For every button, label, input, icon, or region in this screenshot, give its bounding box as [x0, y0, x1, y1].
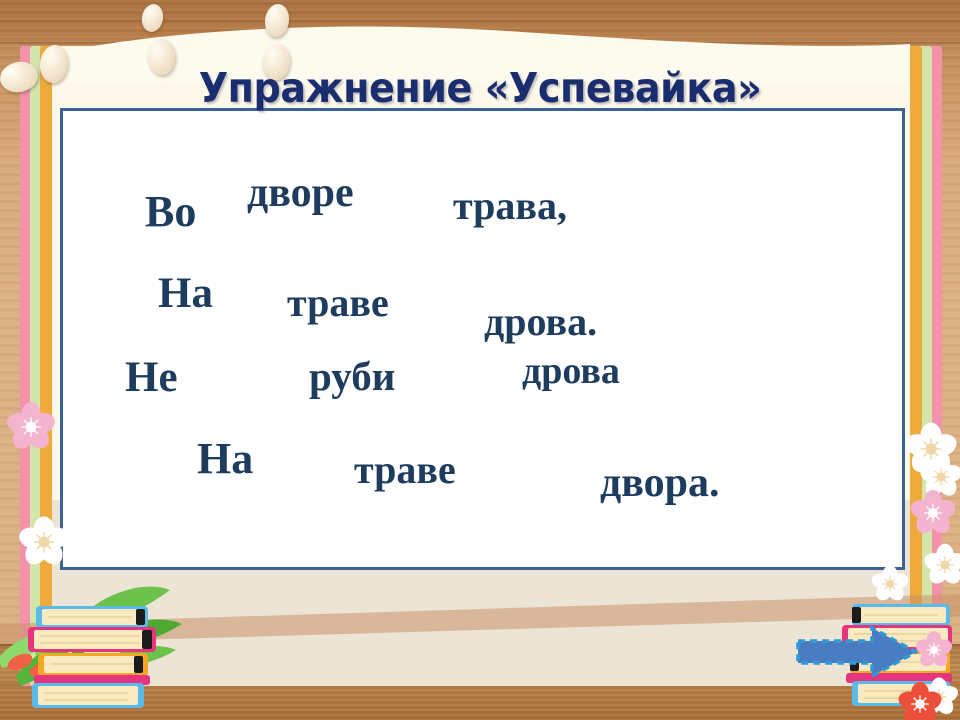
- exercise-word: траве: [287, 283, 389, 323]
- exercise-word: дрова.: [484, 302, 597, 342]
- cherry-blossom-icon: [894, 678, 946, 720]
- presentation-slide: Водворетрава,Натраведрова.НерубидроваНат…: [0, 0, 960, 720]
- exercise-word: дрова: [522, 352, 620, 390]
- exercise-word: руби: [309, 356, 395, 397]
- exercise-content-box: [60, 108, 905, 570]
- exercise-word: трава,: [453, 186, 567, 226]
- slide-title: Упражнение «Успевайка»: [34, 64, 927, 112]
- exercise-word: двора.: [600, 462, 720, 504]
- exercise-word: На: [197, 437, 253, 481]
- exercise-word: траве: [354, 450, 456, 490]
- cherry-blossom-icon: [906, 486, 960, 540]
- next-slide-arrow[interactable]: [796, 626, 918, 678]
- exercise-word: Во: [145, 190, 196, 234]
- exercise-word: дворе: [247, 172, 354, 214]
- cherry-blossom-icon: [920, 540, 960, 590]
- cherry-blossom-icon: [912, 628, 956, 672]
- book-stack-left: [14, 596, 184, 720]
- cherry-blossom-icon: [14, 512, 74, 572]
- exercise-word: Не: [125, 356, 178, 399]
- cherry-blossom-icon: [2, 398, 60, 456]
- cherry-blossom-icon: [868, 562, 912, 606]
- exercise-word: На: [158, 272, 213, 315]
